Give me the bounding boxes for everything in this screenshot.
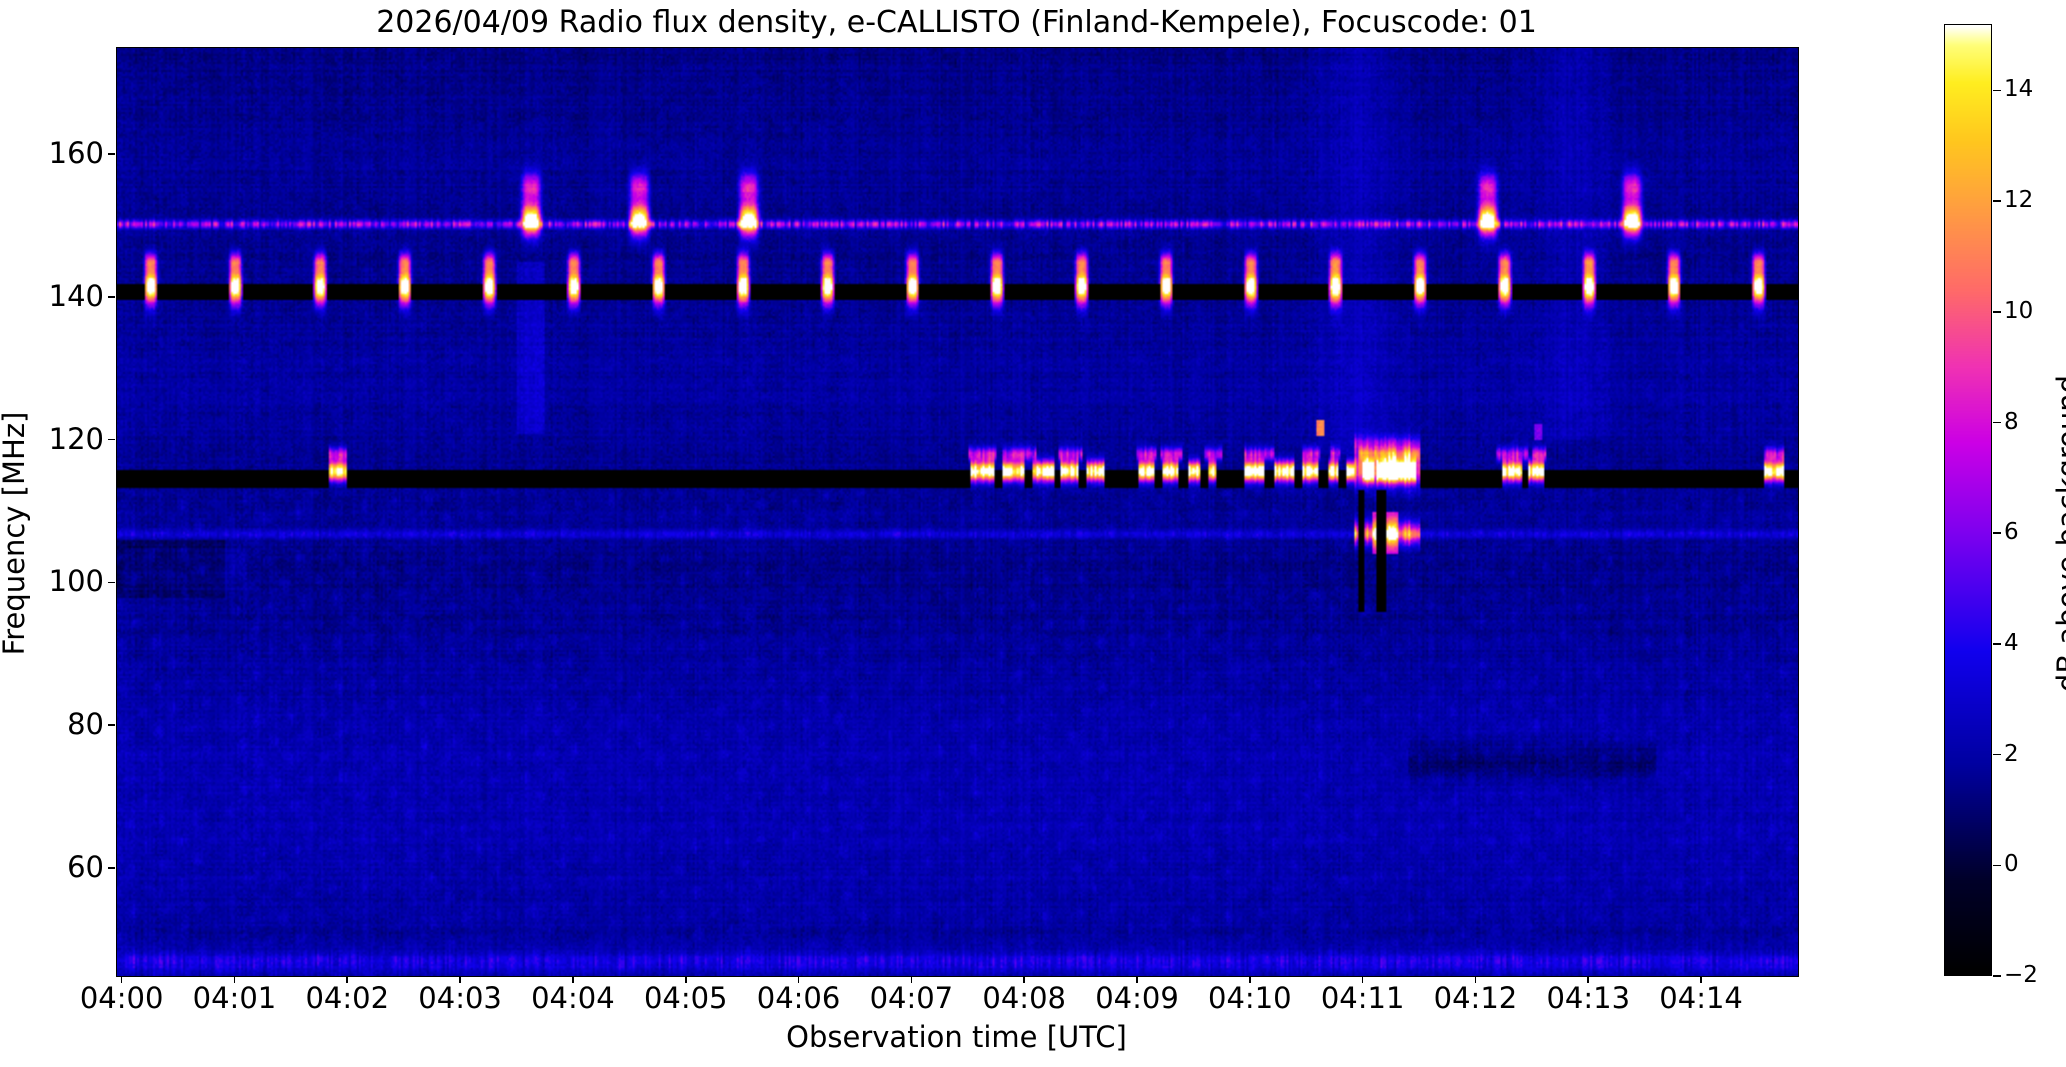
x-axis-tick-mark — [572, 976, 574, 983]
colorbar-tick-mark — [1993, 90, 2001, 92]
y-axis-tick-label: 100 — [0, 567, 104, 596]
colorbar-gradient — [1945, 25, 1991, 975]
colorbar-tick-mark — [1993, 865, 2001, 867]
colorbar-tick-mark — [1993, 975, 2001, 977]
x-axis-tick-mark — [685, 976, 687, 983]
y-axis-tick-mark — [108, 439, 115, 441]
y-axis-tick-label: 140 — [0, 282, 104, 311]
x-axis-tick-mark — [1475, 976, 1477, 983]
spectrogram-figure: 2026/04/09 Radio flux density, e-CALLIST… — [0, 0, 2066, 1067]
y-axis-tick-mark — [108, 724, 115, 726]
y-axis-tick-label: 160 — [0, 139, 104, 168]
x-axis-tick-label: 04:14 — [1621, 984, 1781, 1013]
x-axis-tick-mark — [1023, 976, 1025, 983]
x-axis-tick-mark — [798, 976, 800, 983]
x-axis-tick-mark — [234, 976, 236, 983]
x-axis-tick-mark — [1700, 976, 1702, 983]
page-title: 2026/04/09 Radio flux density, e-CALLIST… — [116, 6, 1797, 40]
colorbar-tick-mark — [1993, 311, 2001, 313]
x-axis-tick-mark — [459, 976, 461, 983]
y-axis-tick-mark — [108, 153, 115, 155]
y-axis-tick-mark — [108, 296, 115, 298]
colorbar — [1944, 24, 1992, 976]
x-axis-tick-mark — [346, 976, 348, 983]
x-axis-tick-mark — [1249, 976, 1251, 983]
y-axis-tick-mark — [108, 867, 115, 869]
x-axis-tick-mark — [1362, 976, 1364, 983]
colorbar-tick-mark — [1993, 422, 2001, 424]
colorbar-label: dB above background — [2048, 0, 2066, 1067]
x-axis-tick-mark — [121, 976, 123, 983]
y-axis-tick-label: 60 — [0, 853, 104, 882]
y-axis-tick-mark — [108, 582, 115, 584]
colorbar-tick-mark — [1993, 532, 2001, 534]
spectrogram-axes — [116, 47, 1799, 977]
x-axis-tick-mark — [911, 976, 913, 983]
spectrogram-heatmap — [117, 48, 1798, 976]
x-axis-label: Observation time [UTC] — [116, 1020, 1797, 1054]
x-axis-tick-mark — [1587, 976, 1589, 983]
colorbar-tick-mark — [1993, 643, 2001, 645]
colorbar-tick-mark — [1993, 754, 2001, 756]
colorbar-tick-mark — [1993, 200, 2001, 202]
x-axis-tick-mark — [1136, 976, 1138, 983]
y-axis-tick-label: 120 — [0, 425, 104, 454]
y-axis-tick-label: 80 — [0, 710, 104, 739]
